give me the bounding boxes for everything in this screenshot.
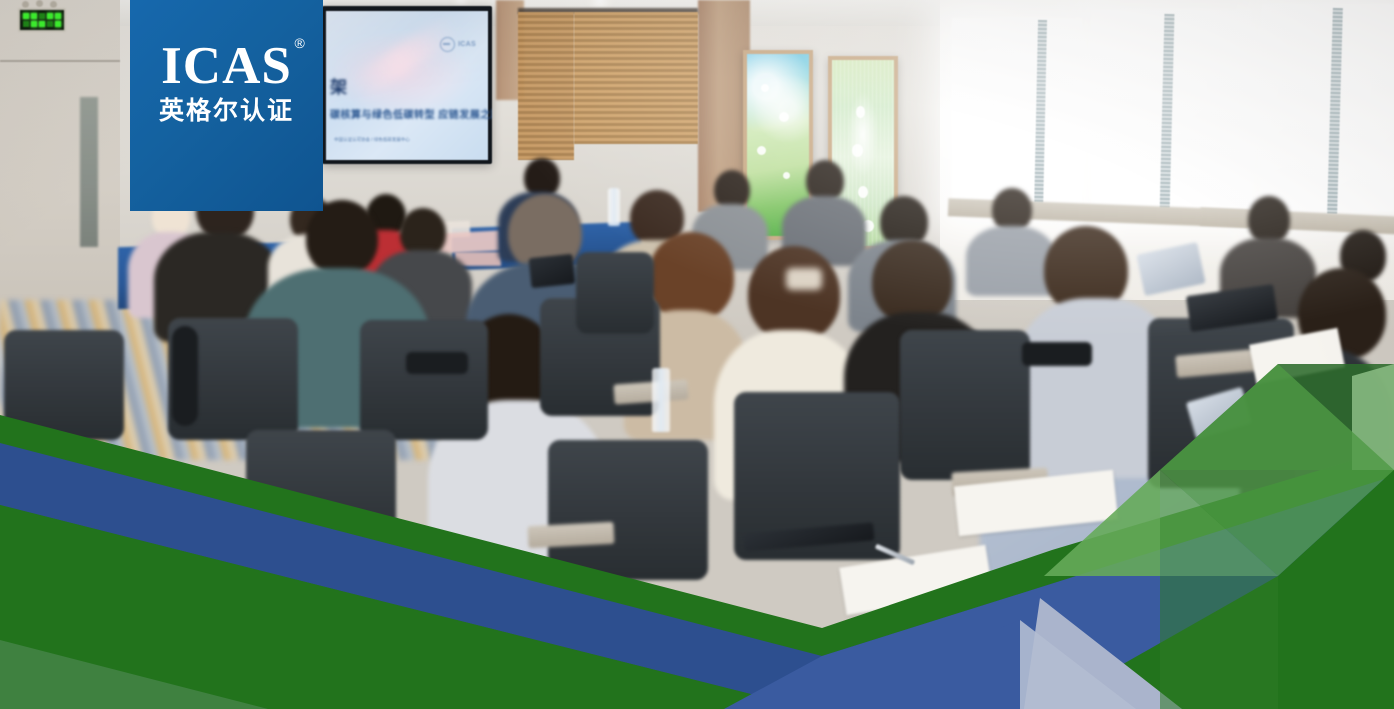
slide-logo: ICAS: [440, 37, 476, 52]
water-bottle: [652, 368, 670, 432]
projector-screen: ICAS 架 碳核算与绿色低碳转型 应链发展之路 中国认证认可协会 / 绿色低碳…: [322, 6, 492, 164]
sign-bracket-icon: [36, 0, 43, 7]
water-bottle: [608, 188, 620, 226]
slide-title: 架: [330, 73, 348, 98]
chair-armrest: [1022, 342, 1092, 366]
sign-bracket-icon: [22, 1, 29, 8]
laptop: [529, 254, 576, 288]
audience-head: [306, 200, 378, 276]
chair-writing-tablet: [527, 522, 614, 548]
icas-wordmark: ICAS ®: [161, 40, 292, 93]
led-exit-sign: [18, 8, 66, 32]
chair-armrest: [406, 352, 468, 374]
slide-fineprint: 中国认证认可协会 / 绿色低碳发展中心: [334, 137, 410, 143]
wall-seam: [0, 60, 120, 62]
office-chair: [360, 320, 488, 440]
audience-torso: [966, 226, 1056, 296]
audience-head: [1248, 196, 1290, 244]
hair-clip: [786, 268, 822, 290]
audience-head: [748, 246, 840, 342]
banner-canvas: ICAS 架 碳核算与绿色低碳转型 应链发展之路 中国认证认可协会 / 绿色低碳…: [0, 0, 1394, 709]
office-chair: [548, 440, 708, 580]
window-blinds: [518, 12, 574, 160]
slide-logo-mark-icon: [440, 37, 455, 52]
office-chair: [900, 330, 1030, 480]
slide-logo-text: ICAS: [458, 41, 476, 48]
icas-wordmark-text: ICAS: [161, 37, 292, 95]
screen-light-streak: [348, 12, 462, 101]
office-chair: [4, 330, 124, 440]
table-papers: [440, 230, 501, 253]
registered-trademark-icon: ®: [295, 36, 306, 50]
door-edge: [80, 97, 98, 247]
office-chair: [246, 430, 396, 560]
left-wall: [0, 0, 120, 340]
icas-logo-block: ICAS ® 英格尔认证: [130, 0, 323, 211]
slide-subtitle: 碳核算与绿色低碳转型 应链发展之路: [330, 106, 492, 121]
office-chair: [576, 252, 654, 334]
icas-chinese-name: 英格尔认证: [159, 99, 294, 124]
window-blinds: [574, 12, 698, 144]
projector-screen-surface: ICAS 架 碳核算与绿色低碳转型 应链发展之路 中国认证认可协会 / 绿色低碳…: [326, 11, 488, 160]
audience-head: [648, 232, 734, 322]
chair-armrest: [172, 326, 198, 426]
sign-bracket-icon: [50, 1, 57, 8]
